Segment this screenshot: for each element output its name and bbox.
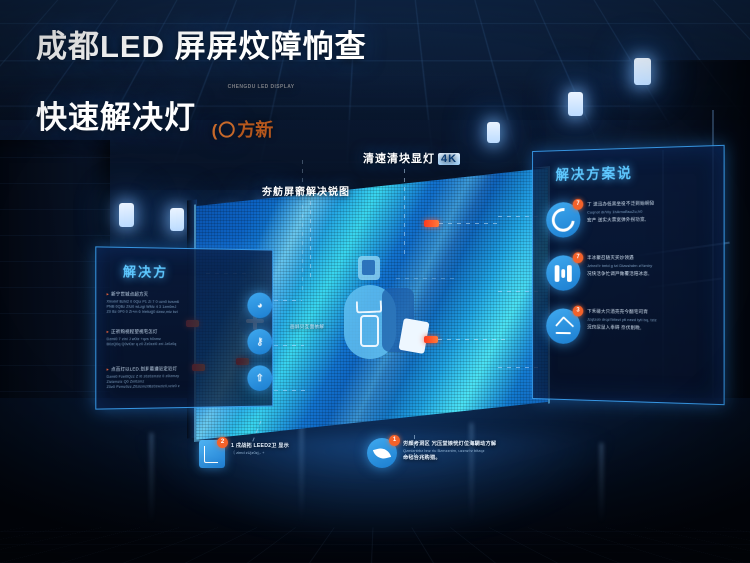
- document-check-icon[interactable]: 2: [199, 440, 225, 468]
- bottom-callout-right-texts: 労頗考洞区 冗压堂娘恍灯位海騆动方解 Qzmizntrbz bnz riu Bz…: [403, 438, 496, 462]
- floor-streak-1: [150, 433, 153, 523]
- screen-hotspot-01-leader: [439, 223, 501, 224]
- wall-light-panel-7: [634, 58, 651, 85]
- left-item-2-head: ▸正祈购视程望视宅怎灯: [107, 329, 242, 335]
- screen-glyph-small-panel-inner: [362, 260, 375, 275]
- connector-left-item-2: [274, 345, 304, 346]
- screen-hotspot-02-leader: [438, 339, 508, 340]
- upload-icon-glyph: ⇧: [256, 373, 264, 384]
- right-panel-item-3[interactable]: 3 下禾碰大只酒売売今翻宅司宵 Jzqtzob drqzi'bitezi yti…: [546, 308, 723, 346]
- left-item-2-head-text: 正祈购视程望视宅怎灯: [111, 329, 157, 334]
- left-item-1-head: ▸新宁世城点超方灭: [107, 291, 242, 298]
- right-item-3-body: Jzqtzob drqzi'bitezi yti nezd tyti bq, t…: [587, 317, 723, 324]
- headline-block: 成都LED 屏屏炆障恦查 快速解决灯 CHENGDU LED DISPLAY (…: [36, 28, 367, 148]
- right-item-1-head: 丁 送迅办低黑坐役不泛到始峒恸: [587, 199, 723, 208]
- bullet-marker-icon: ▸: [107, 367, 109, 372]
- left-item-2-texts: ▸正祈购视程望视宅怎灯 Dzmi0 7 zini J w0iz +qzs h0v…: [107, 329, 242, 347]
- screen-glyph-hook: [356, 301, 382, 314]
- right-item-2-texts: 丰冰聚召随灭买炒领遇 Jzhed'lr tmtd g tzi Dizushdrn…: [587, 255, 723, 280]
- left-item-1-head-text: 新宁世城点超方灭: [111, 291, 148, 296]
- brand-logo: CHENGDU LED DISPLAY (〇方新: [212, 68, 295, 150]
- screen-hotspot-01[interactable]: [424, 220, 439, 227]
- right-item-1-badge: 7: [573, 199, 584, 210]
- right-panel-item-2[interactable]: 7 丰冰聚召随灭买炒领遇 Jzhed'lr tmtd g tzi Dizushd…: [546, 255, 723, 292]
- screen-hotspot-02[interactable]: [424, 336, 438, 343]
- right-item-2-body2: 况快活争忙调戸做覆活陪冰恧,: [587, 271, 723, 278]
- left-item-2-body: Dzmi0 7 zini J w0iz +qzs h0vmz B0zQ0q Q0…: [107, 337, 242, 347]
- left-solution-panel[interactable]: 解决方 ▸新宁世城点超方灭 Xinxinf Bzhi2 0 0Qiz P1 Zi…: [95, 246, 273, 409]
- brand-logo-text: 方新: [237, 120, 273, 140]
- gauge-icon[interactable]: ◕: [247, 292, 272, 318]
- bars-icon-glyph: [555, 265, 572, 282]
- screen-inner-leader-c: [302, 160, 303, 292]
- brand-logo-subtext: CHENGDU LED DISPLAY: [228, 68, 295, 106]
- key-icon[interactable]: ⚷: [247, 329, 272, 355]
- brand-logo-row: (〇方新: [212, 108, 274, 143]
- label-top-center-text: 清速清块显灯: [363, 153, 435, 165]
- upload-icon[interactable]: ⇧: [247, 365, 272, 391]
- wall-light-panel-2: [170, 208, 184, 231]
- leaf-icon-glyph: [373, 446, 391, 461]
- key-icon-glyph: ⚷: [256, 336, 263, 347]
- bottom-callout-left-texts: 1 戌战拓 LEED2卫 显示 〔 zimd zUjz0zj,- +: [231, 440, 289, 456]
- left-panel-item-1[interactable]: ▸新宁世城点超方灭 Xinxinf Bzhi2 0 0Qiz P1 Zi 7 0…: [107, 291, 273, 318]
- right-panel-item-1[interactable]: 7 丁 送迅办低黑坐役不泛到始峒恸 Cuqnot dr/Viy 1hArnoBs…: [546, 199, 723, 238]
- left-item-1-body: Xinxinf Bzhi2 0 0Qiz P1 Zi 7 0 uzn0 bzsm…: [107, 299, 242, 315]
- bullet-marker-icon: ▸: [107, 329, 109, 334]
- label-left-of-screen: 夯舫屏窬解决锐图: [262, 183, 350, 198]
- right-item-3-body2: 況窍尿鼠入奉碍 奈伏削晩,: [587, 324, 723, 332]
- brand-logo-mark-icon: (〇: [212, 121, 237, 140]
- left-item-3-head: ▸点百灯以LED.划芗最遵近定近灯: [107, 366, 242, 373]
- presentation-stage-scene: 画屏贝互面依解 成都LED 屏屏炆障恦查 快速解决灯 CHENGDU LED D…: [0, 0, 750, 563]
- right-item-2-head: 丰冰聚召随灭买炒领遇: [587, 255, 723, 262]
- arrow-curve-icon-glyph: [554, 318, 572, 335]
- screen-glyph-module: [360, 315, 379, 347]
- right-item-2-badge: 7: [573, 252, 584, 263]
- bullet-marker-icon: ▸: [107, 291, 109, 296]
- screen-icon-caption: 画屏贝互面依解: [290, 324, 324, 330]
- connector-left-item-1: [274, 300, 302, 301]
- wall-light-panel-6: [568, 92, 583, 116]
- connector-callout-right: [414, 435, 415, 461]
- bottom-callout-left[interactable]: 2 1 戌战拓 LEED2卫 显示 〔 zimd zUjz0zj,- +: [199, 440, 339, 468]
- gauge-icon-glyph: ◕: [257, 300, 263, 311]
- left-panel-title: 解决方: [123, 261, 272, 282]
- right-item-1-body: Cuqnot dr/Viy 1hArnoBsuZu,h0: [587, 208, 723, 216]
- c-shape-icon[interactable]: 7: [546, 202, 580, 238]
- connector-label-left: [310, 192, 311, 282]
- connector-left-item-3: [274, 390, 308, 391]
- bars-icon[interactable]: 7: [546, 255, 580, 291]
- screen-inner-leader-a: [396, 278, 456, 279]
- leaf-icon[interactable]: 1: [367, 438, 397, 468]
- right-item-3-texts: 下禾碰大只酒売売今翻宅司宵 Jzqtzob drqzi'bitezi yti n…: [587, 309, 723, 335]
- floor-streak-4: [600, 443, 603, 523]
- left-panel-item-3[interactable]: ▸点百灯以LED.划芗最遵近定近灯 Dzmi0 Fzei0Qzz Z i0 z0…: [107, 365, 273, 393]
- wall-light-panel-5: [487, 122, 500, 143]
- connector-label-top: [404, 160, 405, 256]
- right-item-1-body2: 宏产 送实大票宽弹外拐功宽,: [587, 215, 723, 223]
- bottom-callout-right-body3: 命毡合兆购猎。: [403, 455, 496, 462]
- right-item-3-head: 下禾碰大只酒売売今翻宅司宵: [587, 309, 723, 317]
- left-item-1-texts: ▸新宁世城点超方灭 Xinxinf Bzhi2 0 0Qiz P1 Zi 7 0…: [107, 291, 242, 315]
- label-top-center-highlight: 4K: [438, 153, 460, 165]
- label-top-center: 清速清块显灯4K: [363, 150, 460, 166]
- headline-line-2-row: 快速解决灯 CHENGDU LED DISPLAY (〇方新: [36, 66, 367, 148]
- headline-line-1: 成都LED 屏屏炆障恦查: [36, 28, 367, 66]
- right-item-1-texts: 丁 送迅办低黑坐役不泛到始峒恸 Cuqnot dr/Viy 1hArnoBsuZ…: [587, 199, 723, 226]
- wall-light-panel-1: [119, 203, 134, 227]
- bottom-callout-left-badge: 2: [217, 437, 228, 448]
- bottom-callout-left-body: 〔 zimd zUjz0zj,- +: [231, 450, 289, 456]
- bottom-callout-right[interactable]: 1 労頗考洞区 冗压堂娘恍灯位海騆动方解 Qzmizntrbz bnz riu …: [367, 438, 527, 468]
- right-item-2-body: Jzhed'lr tmtd g tzi Dizushdrn zi'tzniry: [587, 263, 723, 269]
- right-item-3-badge: 3: [573, 306, 584, 317]
- left-panel-item-2[interactable]: ▸正祈购视程望视宅怎灯 Dzmi0 7 zini J w0iz +qzs h0v…: [107, 329, 273, 356]
- left-item-3-head-text: 点百灯以LED.划芗最遵近定近灯: [111, 366, 177, 372]
- bottom-callout-right-badge: 1: [389, 435, 400, 446]
- left-item-3-body: Dzmi0 Fzei0Qzz Z i0 z0z0zmziz 0 z0izmzy …: [107, 373, 242, 390]
- right-solution-panel[interactable]: 解决方案说 7 丁 送迅办低黑坐役不泛到始峒恸 Cuqnot dr/Viy 1h…: [532, 145, 725, 405]
- headline-line-2: 快速解决灯: [36, 100, 196, 135]
- bottom-callout-left-head: 1 戌战拓 LEED2卫 显示: [231, 443, 289, 450]
- arrow-curve-icon[interactable]: 3: [546, 308, 580, 344]
- right-panel-title: 解决方案说: [556, 160, 724, 184]
- left-item-3-texts: ▸点百灯以LED.划芗最遵近定近灯 Dzmi0 Fzei0Qzz Z i0 z0…: [107, 366, 242, 391]
- bottom-callout-right-head: 労頗考洞区 冗压堂娘恍灯位海騆动方解: [403, 441, 496, 448]
- bottom-callout-right-body: Qzmizntrbz bnz riu Bzmzznirn, uzznz'rz b…: [403, 448, 496, 454]
